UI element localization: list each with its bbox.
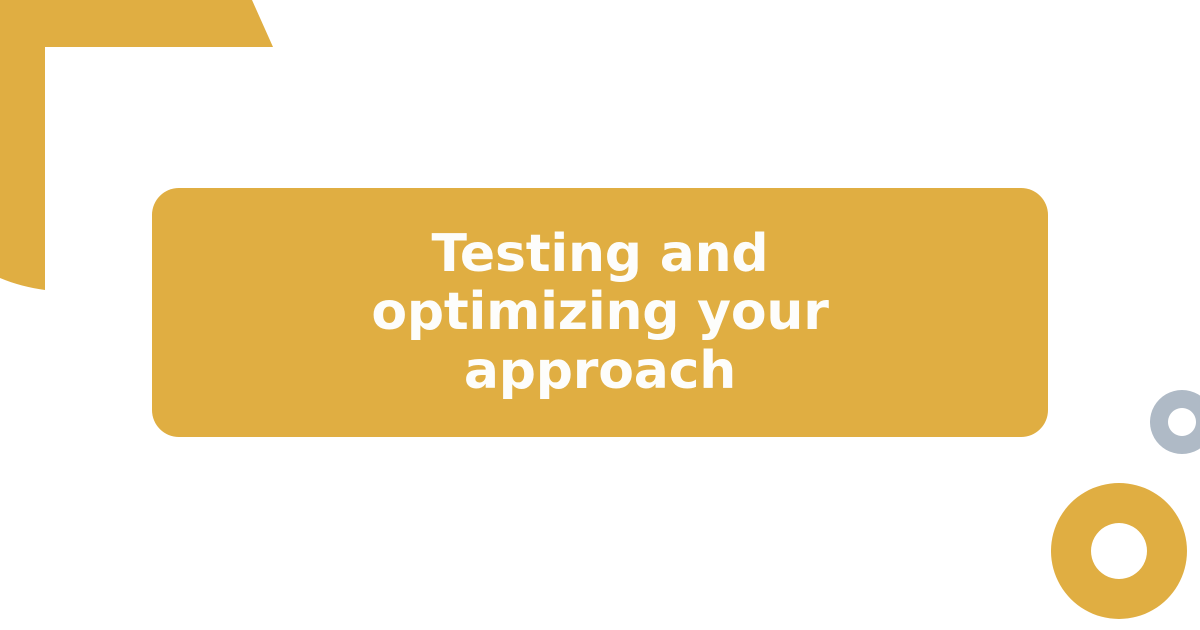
yellow-ring-path [1051,483,1187,619]
gray-ring-icon [1150,390,1200,454]
page-title: Testing and optimizing your approach [300,225,900,400]
yellow-ring-icon [1051,483,1187,619]
gray-ring-path [1150,390,1200,454]
slide-canvas: Testing and optimizing your approach [0,0,1200,630]
headline-card: Testing and optimizing your approach [152,188,1048,437]
